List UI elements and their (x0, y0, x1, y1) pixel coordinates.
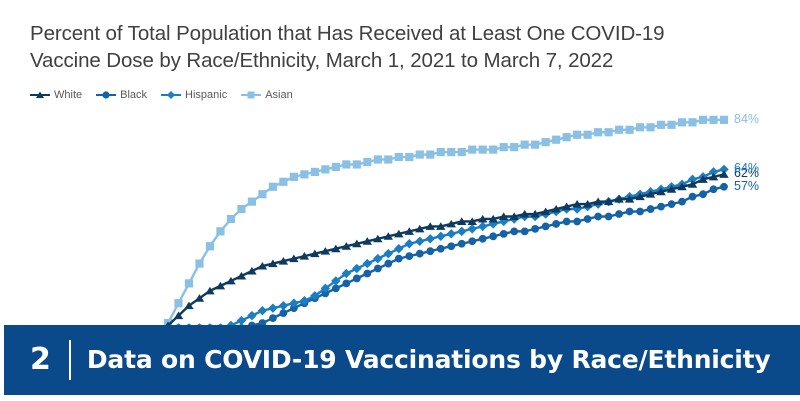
data-point-marker (667, 121, 675, 129)
slide-canvas: Percent of Total Population that Has Rec… (0, 0, 800, 401)
data-point-marker (531, 141, 539, 149)
data-point-marker (248, 198, 256, 206)
data-point-marker (395, 255, 403, 263)
data-point-marker (594, 128, 602, 136)
data-point-marker (625, 126, 633, 134)
data-point-marker (279, 178, 287, 186)
data-point-marker (531, 225, 539, 233)
data-point-marker (468, 224, 477, 233)
data-point-marker (510, 227, 518, 235)
data-point-marker (384, 155, 392, 163)
data-point-marker (363, 259, 372, 268)
data-point-marker (290, 173, 298, 181)
series-asian (164, 116, 728, 327)
data-point-marker (709, 116, 717, 124)
footer-slide-number: 2 (30, 345, 51, 375)
data-point-marker (447, 229, 456, 238)
data-point-marker (216, 227, 224, 235)
data-point-marker (678, 198, 686, 206)
data-point-marker (510, 143, 518, 151)
series-line (168, 120, 724, 323)
data-point-marker (352, 264, 361, 273)
footer-section-title: Data on COVID-19 Vaccinations by Race/Et… (87, 346, 771, 374)
data-point-marker (657, 203, 665, 211)
data-point-marker (384, 249, 393, 258)
data-point-marker (647, 205, 655, 213)
data-point-marker (300, 170, 308, 178)
data-point-marker (458, 240, 466, 248)
data-point-marker (678, 118, 686, 126)
data-point-marker (174, 299, 182, 307)
data-point-marker (321, 165, 329, 173)
data-point-marker (342, 280, 350, 288)
data-point-marker (468, 237, 476, 245)
data-point-marker (374, 265, 382, 273)
data-point-marker (384, 260, 392, 268)
data-point-marker (521, 227, 529, 235)
data-point-marker (415, 237, 424, 246)
data-point-marker (447, 242, 455, 250)
footer-banner: 2 Data on COVID-19 Vaccinations by Race/… (4, 325, 800, 395)
chart-title: Percent of Total Population that Has Rec… (30, 20, 760, 74)
data-point-marker (500, 143, 508, 151)
data-point-marker (468, 146, 476, 154)
data-point-marker (279, 301, 288, 310)
data-point-marker (437, 148, 445, 156)
data-point-marker (206, 242, 214, 250)
data-point-marker (710, 185, 718, 193)
data-point-marker (227, 215, 235, 223)
data-point-marker (311, 168, 319, 176)
data-point-marker (573, 218, 581, 226)
data-point-marker (353, 275, 361, 283)
data-point-marker (657, 121, 665, 129)
legend-marker-triangle-icon (30, 90, 50, 101)
data-point-marker (479, 235, 487, 243)
data-point-marker (584, 215, 592, 223)
chart-title-line-2: Vaccine Dose by Race/Ethnicity, March 1,… (30, 47, 760, 74)
legend-marker-diamond-icon (161, 90, 181, 101)
data-point-marker (542, 223, 550, 231)
data-point-marker (342, 160, 350, 168)
data-point-marker (615, 126, 623, 134)
data-point-marker (395, 153, 403, 161)
data-point-marker (636, 208, 644, 216)
chart-title-line-1: Percent of Total Population that Has Rec… (30, 20, 760, 47)
data-point-marker (689, 193, 697, 201)
data-point-marker (594, 213, 602, 221)
data-point-marker (563, 133, 571, 141)
data-point-marker (269, 183, 277, 191)
data-point-marker (269, 314, 277, 322)
data-point-marker (195, 259, 203, 267)
data-point-marker (363, 270, 371, 278)
data-point-marker (720, 116, 728, 124)
data-point-marker (478, 222, 487, 231)
data-point-marker (416, 150, 424, 158)
data-point-marker (437, 245, 445, 253)
data-point-marker (363, 158, 371, 166)
data-point-marker (258, 306, 267, 315)
data-point-marker (636, 123, 644, 131)
data-point-marker (426, 150, 434, 158)
data-point-marker (552, 136, 560, 144)
data-point-marker (688, 118, 696, 126)
legend-marker-square-icon (241, 90, 261, 101)
data-point-marker (237, 316, 246, 325)
data-point-marker (605, 128, 613, 136)
legend-marker-circle-icon (96, 90, 116, 101)
data-point-marker (489, 146, 497, 154)
data-point-marker (479, 146, 487, 154)
data-point-marker (699, 116, 707, 124)
data-point-marker (426, 247, 434, 255)
data-point-marker (626, 208, 634, 216)
data-point-marker (552, 220, 560, 228)
data-point-marker (416, 250, 424, 258)
data-point-marker (436, 232, 445, 241)
data-point-marker (605, 213, 613, 221)
data-point-marker (405, 239, 414, 248)
data-point-marker (458, 148, 466, 156)
data-point-marker (542, 138, 550, 146)
end-label-black: 57% (734, 180, 759, 193)
data-point-marker (699, 190, 707, 198)
data-point-marker (573, 131, 581, 139)
data-point-marker (668, 200, 676, 208)
data-point-marker (374, 155, 382, 163)
data-point-marker (353, 160, 361, 168)
data-point-marker (185, 279, 193, 287)
data-point-marker (500, 230, 508, 238)
data-point-marker (521, 141, 529, 149)
data-point-marker (268, 303, 277, 312)
data-point-marker (584, 131, 592, 139)
data-point-marker (457, 227, 466, 236)
data-point-marker (405, 153, 413, 161)
end-label-hispanic: 64% (734, 162, 759, 175)
data-point-marker (447, 148, 455, 156)
line-chart-plot (0, 100, 800, 330)
data-point-marker (563, 218, 571, 226)
data-point-marker (237, 205, 245, 213)
footer-divider (69, 340, 71, 380)
data-point-marker (489, 232, 497, 240)
end-label-asian: 84% (734, 113, 759, 126)
data-point-marker (646, 123, 654, 131)
data-point-marker (247, 311, 256, 320)
data-point-marker (332, 163, 340, 171)
data-point-marker (373, 254, 382, 263)
data-point-marker (615, 210, 623, 218)
data-point-marker (426, 234, 435, 243)
data-point-marker (720, 183, 728, 191)
data-point-marker (394, 244, 403, 253)
data-point-marker (258, 190, 266, 198)
data-point-marker (405, 252, 413, 260)
